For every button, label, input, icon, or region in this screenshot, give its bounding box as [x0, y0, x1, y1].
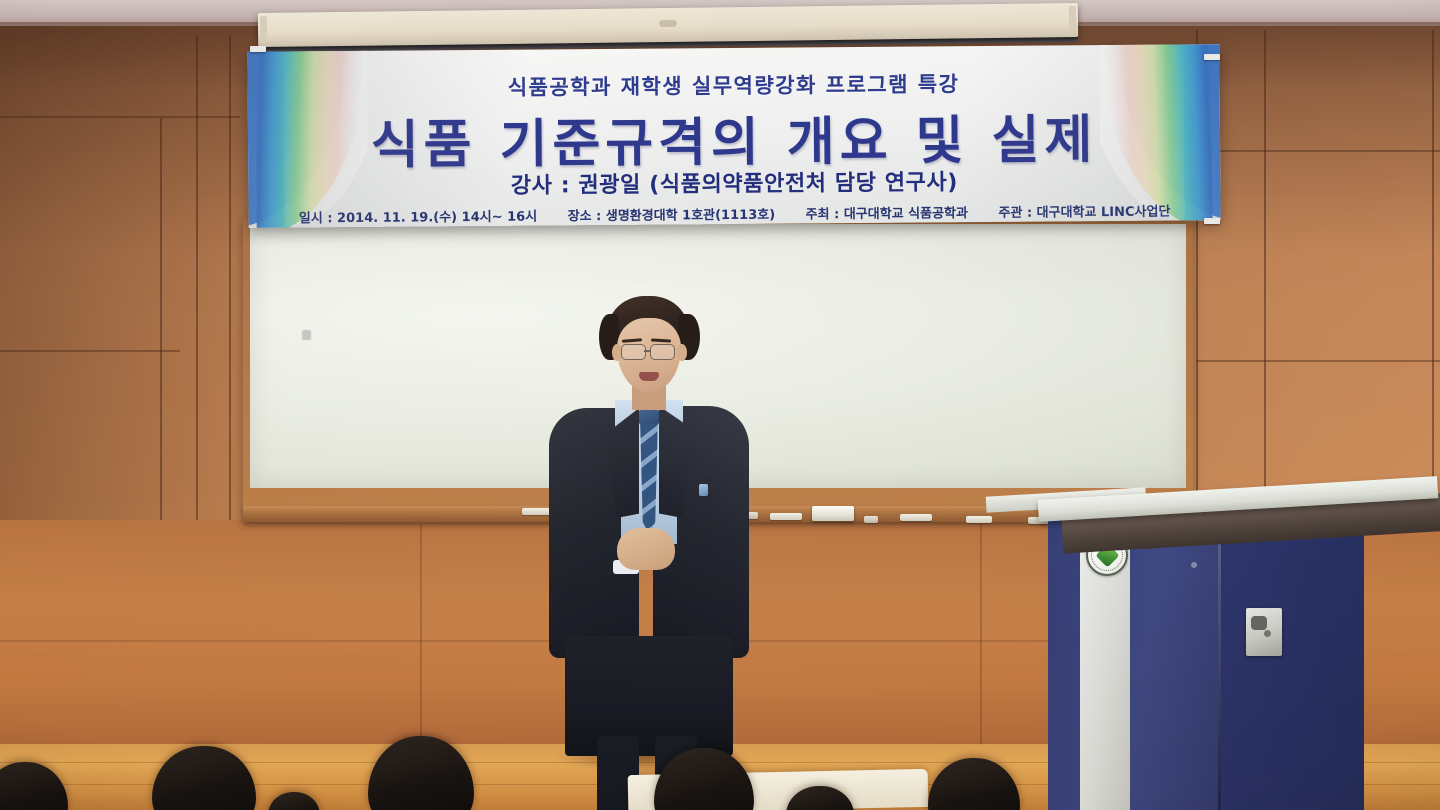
wall-seam: [0, 350, 180, 352]
banner-clip-bottom-right: [1204, 218, 1220, 224]
wall-seam: [0, 640, 1060, 642]
clasped-hands: [617, 528, 675, 570]
lectern-body-side: [1218, 530, 1364, 810]
banner-speaker-line: 강사 : 권광일 (식품의약품안전처 담당 연구사): [248, 162, 1220, 202]
mouth: [639, 372, 659, 381]
whiteboard-eraser[interactable]: [812, 506, 854, 521]
housing-end-cap-left: [260, 16, 267, 42]
connector-knob[interactable]: [1264, 630, 1271, 637]
wall-seam: [980, 524, 982, 748]
eyeglasses-lens-left: [621, 344, 646, 360]
whiteboard-marker[interactable]: [770, 513, 802, 520]
lectern[interactable]: [1048, 478, 1440, 810]
banner-place: 장소 : 생명환경대학 1호관(1113호): [568, 208, 776, 225]
lectern-panel-seam: [1218, 524, 1221, 810]
banner-datetime: 일시 : 2014. 11. 19.(수) 14시~ 16시: [299, 210, 537, 227]
whiteboard-marker[interactable]: [900, 514, 932, 521]
wall-seam: [0, 116, 240, 118]
connector-port[interactable]: [1251, 616, 1267, 630]
housing-end-cap-right: [1069, 6, 1076, 32]
ear-right: [677, 344, 687, 361]
lectern-screw: [1191, 562, 1197, 568]
banner-organizer: 주관 : 대구대학교 LINC사업단: [998, 205, 1170, 221]
eyeglasses-bridge: [644, 350, 650, 352]
wall-seam: [1196, 360, 1440, 362]
event-banner: 식품공학과 재학생 실무역량강화 프로그램 특강 식품 기준규격의 개요 및 실…: [247, 44, 1220, 228]
wall-seam: [420, 524, 422, 748]
whiteboard-marker[interactable]: [864, 516, 878, 523]
lectern-connector-plate[interactable]: [1246, 608, 1282, 656]
eyeglasses-lens-right: [650, 344, 675, 360]
whiteboard-smudge: [302, 330, 311, 340]
banner-clip-top-left: [250, 46, 266, 52]
wall-seam: [1196, 150, 1440, 152]
presenter: [541, 296, 751, 766]
banner-clip-top-right: [1204, 54, 1220, 60]
screen-pull-knob[interactable]: [659, 20, 677, 27]
necktie-knot: [638, 410, 660, 424]
lapel-badge: [699, 484, 708, 496]
lecture-hall-photo: 식품공학과 재학생 실무역량강화 프로그램 특강 식품 기준규격의 개요 및 실…: [0, 0, 1440, 810]
banner-host: 주최 : 대구대학교 식품공학과: [806, 206, 968, 222]
whiteboard-marker[interactable]: [966, 516, 992, 523]
